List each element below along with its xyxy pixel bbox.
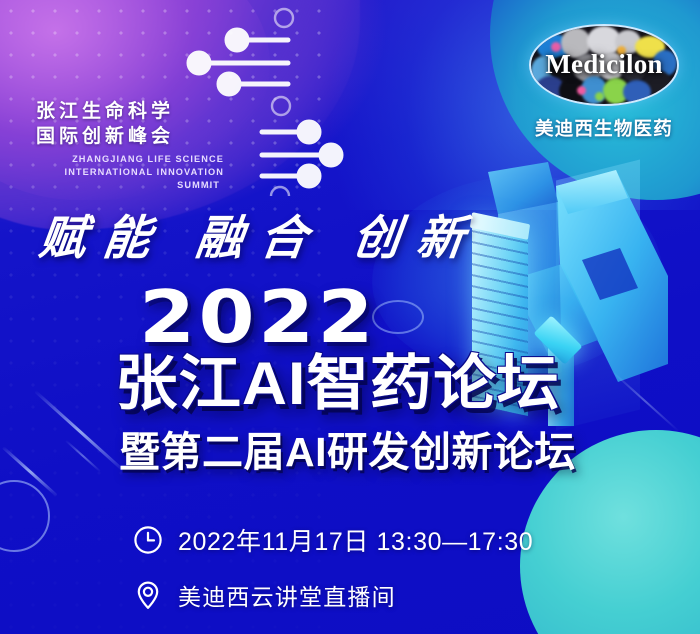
event-details: 2022年11月17日 13:30—17:30 美迪西云讲堂直播间 xyxy=(133,522,533,612)
summit-logo-cn-line1: 张江生命科学 xyxy=(36,99,226,124)
sponsor-wordmark: Medicilon xyxy=(531,49,677,80)
summit-logo-en-line1: ZHANGJIANG LIFE SCIENCE xyxy=(36,153,224,166)
event-poster: 张江生命科学 国际创新峰会 ZHANGJIANG LIFE SCIENCE IN… xyxy=(0,0,700,634)
sponsor-logo: Medicilon 美迪西生物医药 xyxy=(528,24,680,141)
event-year: 2022 xyxy=(139,281,377,353)
poster-title-main: 张江AI智药论坛 xyxy=(115,354,560,414)
summit-logo-en-line3: SUMMIT xyxy=(36,179,224,192)
event-location: 美迪西云讲堂直播间 xyxy=(178,578,396,612)
summit-logo-en-line2: INTERNATIONAL INNOVATION xyxy=(36,166,224,179)
event-time: 2022年11月17日 13:30—17:30 xyxy=(178,522,533,558)
event-location-row: 美迪西云讲堂直播间 xyxy=(133,578,533,612)
location-pin-icon xyxy=(133,580,163,610)
sponsor-cn-name: 美迪西生物医药 xyxy=(528,115,680,141)
summit-logo: 张江生命科学 国际创新峰会 ZHANGJIANG LIFE SCIENCE IN… xyxy=(36,99,226,192)
sponsor-logo-badge: Medicilon xyxy=(529,24,679,106)
clock-icon xyxy=(133,525,163,555)
summit-logo-en: ZHANGJIANG LIFE SCIENCE INTERNATIONAL IN… xyxy=(36,153,226,192)
poster-slogan: 赋能 融合 创新 xyxy=(36,199,486,268)
summit-logo-cn-line2: 国际创新峰会 xyxy=(36,124,226,149)
event-time-row: 2022年11月17日 13:30—17:30 xyxy=(133,522,533,558)
poster-title-sub: 暨第二届AI研发创新论坛 xyxy=(119,432,576,473)
decorative-ring xyxy=(372,300,424,334)
